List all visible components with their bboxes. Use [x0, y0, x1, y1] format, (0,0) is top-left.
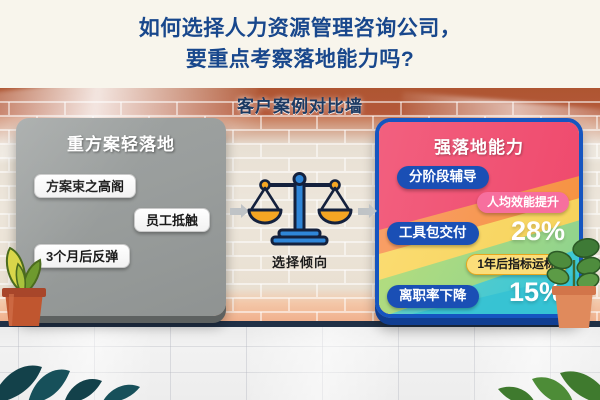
left-panel-chip-2[interactable]: 员工抵触	[134, 208, 210, 232]
potted-plant-left	[0, 236, 52, 333]
center-decision-block: 选择倾向	[243, 168, 357, 278]
foliage-right	[474, 339, 600, 400]
right-panel-chip-3[interactable]: 工具包交付	[387, 222, 479, 245]
foliage-left	[0, 333, 170, 400]
page-header: 如何选择人力资源管理咨询公司， 要重点考察落地能力吗?	[0, 0, 600, 88]
center-label: 选择倾向	[243, 252, 357, 271]
page-title-line-1: 如何选择人力资源管理咨询公司，	[139, 13, 462, 44]
right-panel-title: 强落地能力	[379, 133, 579, 158]
right-panel-chip-1[interactable]: 分阶段辅导	[397, 166, 489, 189]
right-panel-chip-5[interactable]: 离职率下降	[387, 285, 479, 308]
left-panel-chip-1[interactable]: 方案束之高阁	[34, 174, 136, 198]
page-title-line-2: 要重点考察落地能力吗?	[186, 44, 414, 75]
balance-scale-icon	[243, 168, 357, 254]
right-panel-chip-2[interactable]: 人均效能提升	[477, 192, 569, 213]
potted-plant-right	[544, 238, 600, 335]
wall-banner-title: 客户案例对比墙	[0, 92, 600, 117]
left-panel-title: 重方案轻落地	[16, 130, 226, 155]
baseboard-line	[0, 321, 600, 327]
